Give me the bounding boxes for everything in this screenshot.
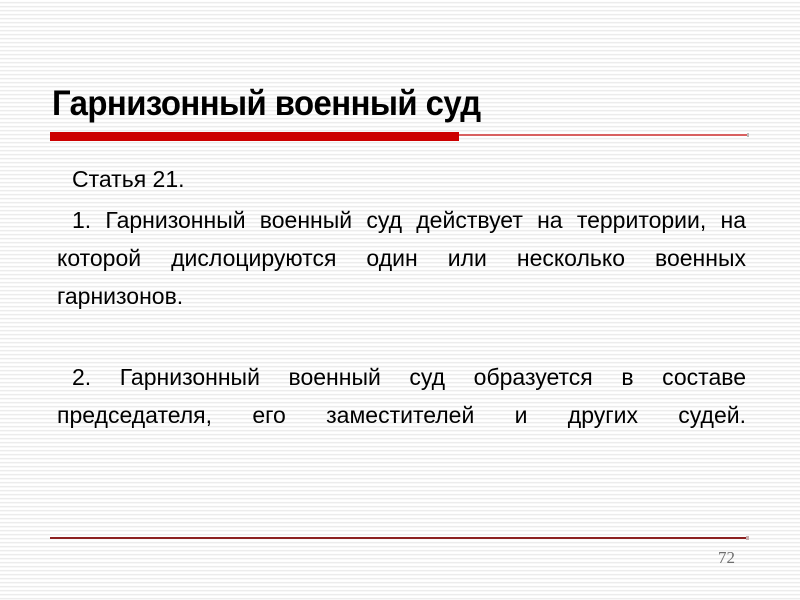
- slide-body: Статья 21. 1. Гарнизонный военный суд де…: [57, 160, 746, 477]
- title-rule-endcap-marker: [747, 133, 749, 137]
- title-underline-rule: [50, 131, 749, 141]
- footer-divider-rule: [50, 537, 748, 539]
- slide-title: Гарнизонный военный суд: [52, 84, 710, 124]
- article-label: Статья 21.: [57, 160, 746, 198]
- body-paragraph-1: 1. Гарнизонный военный суд действует на …: [57, 201, 746, 353]
- page-number: 72: [718, 548, 758, 568]
- body-paragraph-2: 2. Гарнизонный военный суд образуется в …: [57, 358, 746, 472]
- footer-rule-endcap-marker: [746, 536, 749, 540]
- slide-canvas: Гарнизонный военный суд Статья 21. 1. Га…: [0, 0, 800, 600]
- title-rule-thick-segment: [50, 132, 459, 141]
